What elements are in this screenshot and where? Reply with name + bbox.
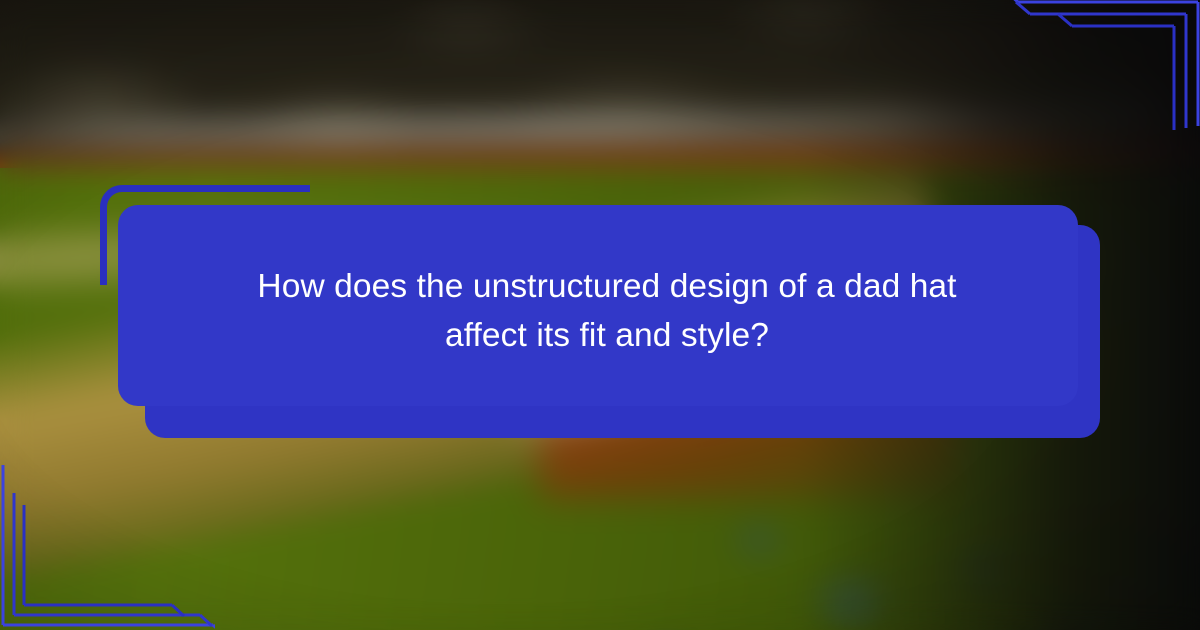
question-card: How does the unstructured design of a da… bbox=[100, 185, 1105, 443]
share-card-canvas: How does the unstructured design of a da… bbox=[0, 0, 1200, 630]
question-title: How does the unstructured design of a da… bbox=[222, 263, 992, 361]
card-text-wrapper: How does the unstructured design of a da… bbox=[118, 205, 1096, 418]
